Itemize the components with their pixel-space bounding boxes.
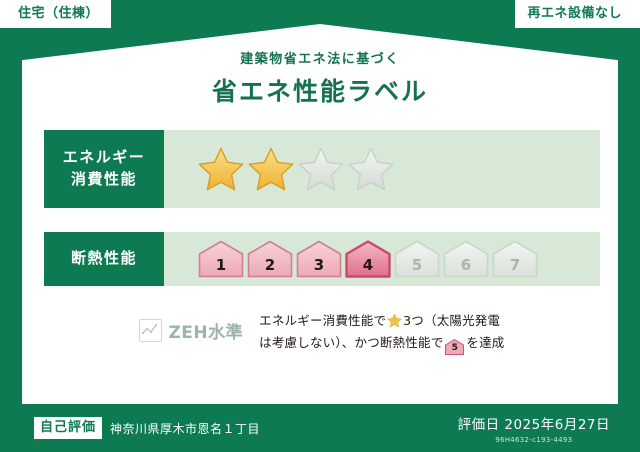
star-empty-icon <box>298 146 344 192</box>
energy-performance-label: 住宅（住棟） 再エネ設備なし 建築物省エネ法に基づく 省エネ性能ラベル エネルギ… <box>0 0 640 452</box>
footer: 自己評価 神奈川県厚木市恩名１丁目 評価日 2025年6月27日 96H4632… <box>0 404 640 452</box>
inline-badge-value: 5 <box>445 339 464 358</box>
status-badge: 自己評価 <box>34 417 102 439</box>
insulation-level-value: 7 <box>510 258 520 278</box>
zeh-label: ZEH水準 <box>168 318 243 343</box>
insulation-level-badge: 6 <box>443 240 489 278</box>
star-empty-icon <box>348 146 394 192</box>
insulation-level-value: 2 <box>265 258 275 278</box>
star-icon <box>387 313 402 328</box>
footer-right: 評価日 2025年6月27日 96H4632-c193-4493 <box>458 413 610 444</box>
renewable-equipment-tag: 再エネ設備なし <box>515 0 640 28</box>
insulation-level-value: 3 <box>314 258 324 278</box>
insulation-level-badge: 1 <box>198 240 244 278</box>
page-title: 省エネ性能ラベル <box>0 72 640 108</box>
chart-line-icon <box>139 319 162 342</box>
star-filled-icon <box>198 146 244 192</box>
zeh-desc-part2: は考慮しない）、かつ断熱性能で <box>259 335 443 350</box>
insulation-level-scale: 1234567 <box>164 232 600 286</box>
zeh-description: エネルギー消費性能で 3つ（太陽光発電は考慮しない）、かつ断熱性能で 5を達成 <box>259 310 504 355</box>
evaluation-date: 評価日 2025年6月27日 <box>458 413 610 433</box>
insulation-label-line1: 断熱性能 <box>71 248 137 270</box>
insulation-performance-row: 断熱性能 1234567 <box>44 232 600 286</box>
insulation-level-value: 1 <box>216 258 226 278</box>
star-filled-icon <box>248 146 294 192</box>
insulation-level-value: 4 <box>363 258 373 278</box>
evaluation-code: 96H4632-c193-4493 <box>458 436 610 444</box>
zeh-desc-part1b: 3つ（太陽光発電 <box>403 313 500 328</box>
star-rating <box>164 130 600 208</box>
insulation-level-badge: 3 <box>296 240 342 278</box>
zeh-mark: ZEH水準 <box>139 310 243 343</box>
insulation-level-value: 6 <box>461 258 471 278</box>
building-address: 神奈川県厚木市恩名１丁目 <box>110 420 260 437</box>
insulation-level-badge: 7 <box>492 240 538 278</box>
insulation-level-badge: 4 <box>345 240 391 278</box>
zeh-desc-part2b: を達成 <box>466 335 504 350</box>
insulation-level-value: 5 <box>412 258 422 278</box>
insulation-level-badge: 2 <box>247 240 293 278</box>
title-block: 建築物省エネ法に基づく 省エネ性能ラベル <box>0 48 640 108</box>
footer-left: 自己評価 神奈川県厚木市恩名１丁目 <box>34 417 260 439</box>
zeh-standard-block: ZEH水準 エネルギー消費性能で 3つ（太陽光発電は考慮しない）、かつ断熱性能で… <box>44 310 600 355</box>
energy-performance-row: エネルギー 消費性能 <box>44 130 600 208</box>
building-type-tag: 住宅（住棟） <box>0 0 111 28</box>
insulation-level-inline-badge: 5 <box>445 339 464 355</box>
energy-label-line1: エネルギー <box>63 147 146 169</box>
insulation-level-badge: 5 <box>394 240 440 278</box>
energy-performance-label-cell: エネルギー 消費性能 <box>44 130 164 208</box>
insulation-performance-label-cell: 断熱性能 <box>44 232 164 286</box>
label-subtitle: 建築物省エネ法に基づく <box>0 48 640 67</box>
zeh-desc-part1: エネルギー消費性能で <box>259 313 386 328</box>
energy-label-line2: 消費性能 <box>71 169 137 191</box>
